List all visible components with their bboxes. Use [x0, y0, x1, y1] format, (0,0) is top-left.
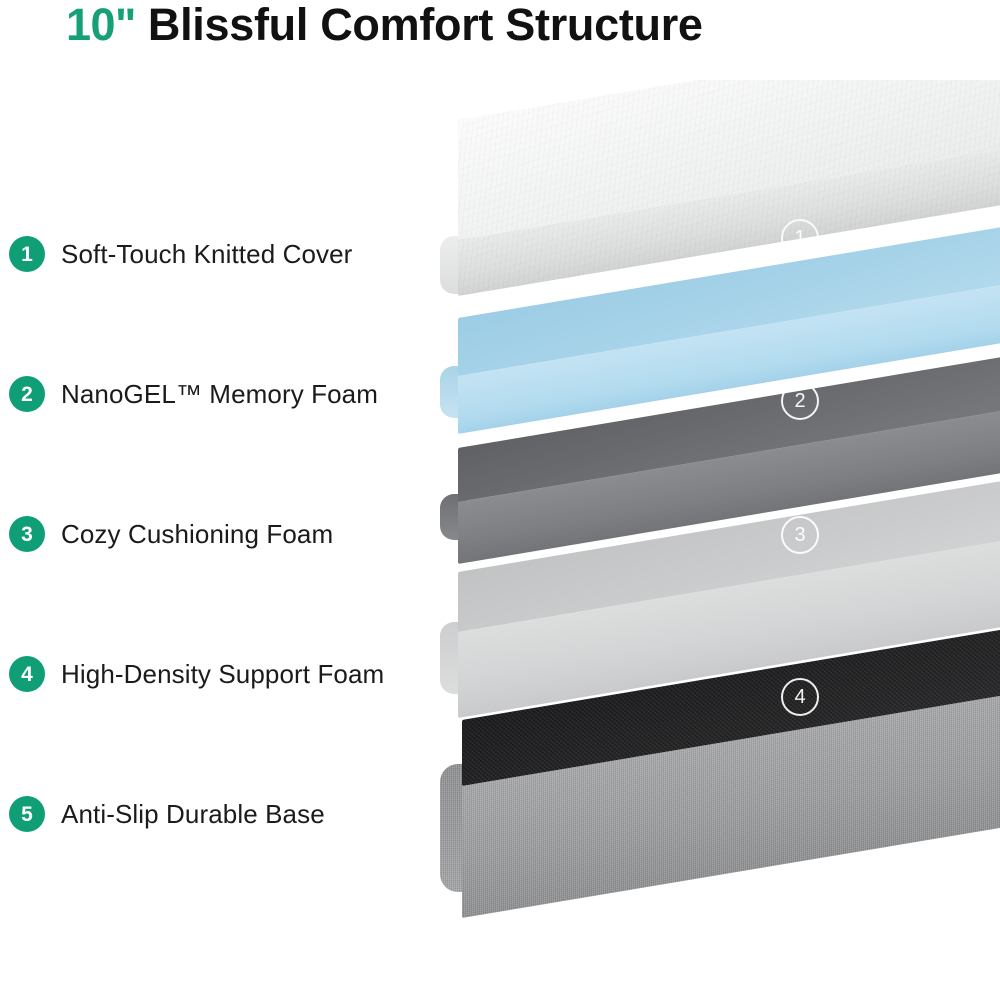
legend-item-4[interactable]: 4 High-Density Support Foam — [9, 652, 384, 696]
legend-badge-1-number: 1 — [21, 244, 33, 265]
legend-label-2: NanoGEL™ Memory Foam — [61, 379, 378, 410]
legend-item-1[interactable]: 1 Soft-Touch Knitted Cover — [9, 232, 352, 276]
legend-badge-4-number: 4 — [21, 664, 33, 685]
page-title: 10" Blissful Comfort Structure — [66, 2, 966, 62]
legend-item-2[interactable]: 2 NanoGEL™ Memory Foam — [9, 372, 378, 416]
legend-badge-4: 4 — [9, 656, 45, 692]
legend-badge-5-number: 5 — [21, 804, 33, 825]
legend-badge-5: 5 — [9, 796, 45, 832]
illustration-badge-5-label: 5 — [794, 883, 805, 903]
legend-item-5[interactable]: 5 Anti-Slip Durable Base — [9, 792, 325, 836]
legend-item-3[interactable]: 3 Cozy Cushioning Foam — [9, 512, 333, 556]
title-text: Blissful Comfort Structure — [148, 2, 703, 47]
legend-label-1: Soft-Touch Knitted Cover — [61, 239, 352, 270]
title-size-accent: 10" — [66, 2, 136, 47]
illustration-badge-5: 5 — [781, 874, 819, 912]
legend-badge-2: 2 — [9, 376, 45, 412]
legend-badge-3: 3 — [9, 516, 45, 552]
legend-label-4: High-Density Support Foam — [61, 659, 384, 690]
mattress-layer-illustration: 1 2 3 4 5 — [440, 80, 1000, 1000]
legend-badge-2-number: 2 — [21, 384, 33, 405]
legend-badge-3-number: 3 — [21, 524, 33, 545]
legend-badge-1: 1 — [9, 236, 45, 272]
legend-label-5: Anti-Slip Durable Base — [61, 799, 325, 830]
legend-label-3: Cozy Cushioning Foam — [61, 519, 333, 550]
